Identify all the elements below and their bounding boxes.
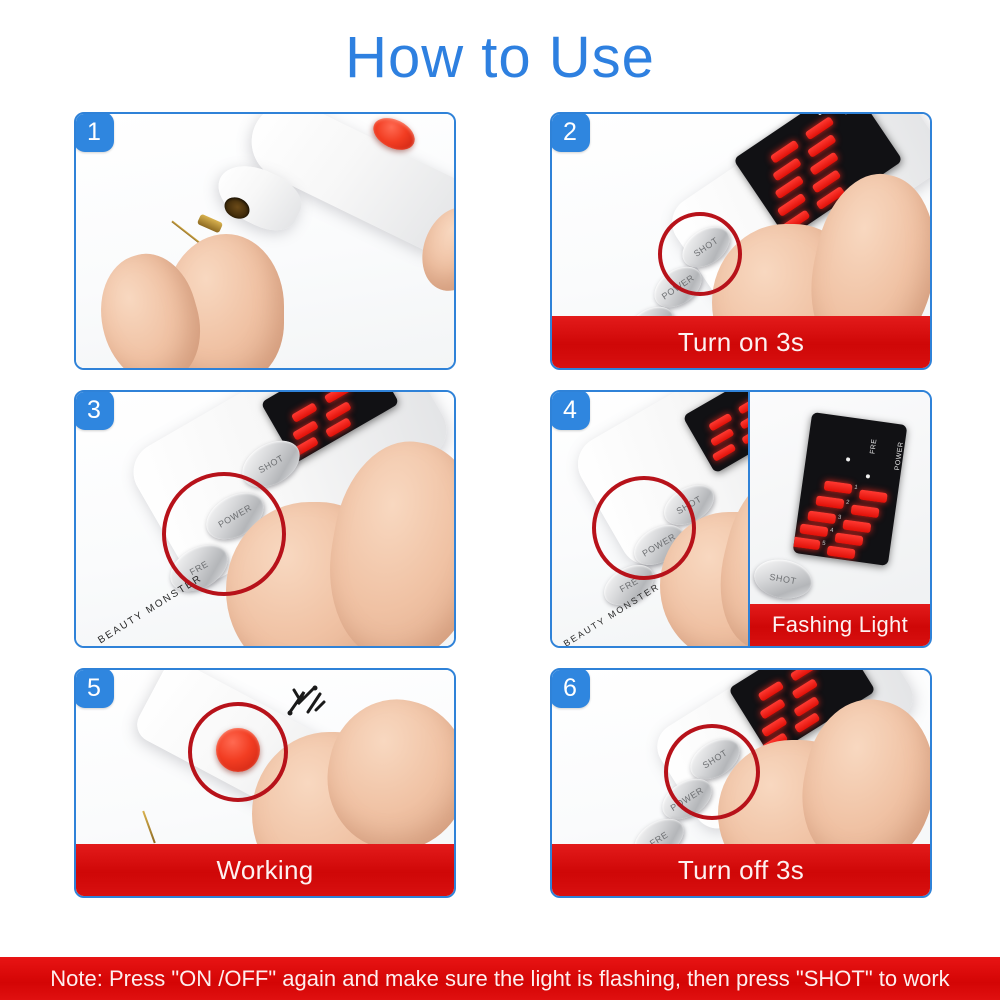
page-title: How to Use — [0, 26, 1000, 90]
how-to-use-page: How to Use 1 — [0, 0, 1000, 1000]
step-caption-2: Turn on 3s — [552, 316, 930, 368]
led-indicator-dot-fre — [846, 457, 851, 462]
step-photo-3: SHOT POWER FRE BEAUTY MONSTER — [76, 392, 454, 646]
step-card-3[interactable]: SHOT POWER FRE BEAUTY MONSTER 3 — [74, 390, 456, 648]
led-level-number: 3 — [837, 515, 841, 521]
step-badge-4: 4 — [550, 390, 590, 430]
highlight-ring — [188, 702, 288, 802]
step-card-2[interactable]: SHOT POWER FRE 2 Turn on 3s — [550, 112, 932, 370]
led-label-fre: FRE — [869, 438, 878, 454]
led-bar — [799, 523, 828, 537]
led-bar — [850, 504, 879, 518]
highlight-ring — [162, 472, 286, 596]
highlight-ring — [592, 476, 696, 580]
led-label-power: POWER — [894, 441, 905, 471]
step-photo-1 — [76, 114, 454, 368]
led-bar — [859, 489, 888, 503]
step-caption-5: Working — [76, 844, 454, 896]
footer-note: Note: Press "ON /OFF" again and make sur… — [0, 957, 1000, 1000]
led-level-number: 5 — [822, 541, 826, 547]
step-badge-1: 1 — [74, 112, 114, 152]
led-indicator-dot-power — [866, 474, 871, 479]
led-bar — [738, 396, 749, 415]
needle-tip — [142, 811, 156, 844]
led-bar — [834, 532, 863, 546]
led-indicator-dot-power — [843, 114, 849, 115]
step-card-4[interactable]: SHOT POWER FRE BEAUTY MONSTER FRE POWER … — [550, 390, 932, 648]
shot-button-label: SHOT — [257, 453, 286, 475]
step-badge-5: 5 — [74, 668, 114, 708]
step-badge-3: 3 — [74, 390, 114, 430]
led-bar — [793, 537, 821, 551]
led-bar — [824, 480, 853, 494]
inset-closeup-panel: FRE POWER 1 2 3 4 — [748, 392, 930, 646]
step-caption-6: Turn off 3s — [552, 844, 930, 896]
led-level-number: 2 — [846, 500, 850, 506]
highlight-ring — [664, 724, 760, 820]
step-photo-4: SHOT POWER FRE BEAUTY MONSTER — [552, 392, 748, 646]
led-level-number: 1 — [854, 485, 858, 491]
led-bar — [807, 510, 836, 524]
step-badge-2: 2 — [550, 112, 590, 152]
led-level-number: 4 — [830, 528, 834, 534]
highlight-ring — [658, 212, 742, 296]
steps-grid: 1 — [74, 112, 932, 898]
step-badge-6: 6 — [550, 668, 590, 708]
step-card-6[interactable]: SHOT POWER FRE 6 Turn off 3s — [550, 668, 932, 898]
step-card-5[interactable]: 5 Working — [74, 668, 456, 898]
led-bar — [827, 545, 856, 559]
shot-button[interactable]: SHOT — [751, 555, 815, 602]
shot-button-label: SHOT — [769, 572, 798, 587]
inset-led-display-panel: FRE POWER 1 2 3 4 — [793, 412, 908, 566]
inset-caption: Fashing Light — [750, 604, 930, 646]
led-indicator-dot-fre — [817, 114, 823, 116]
led-bar — [815, 495, 844, 509]
spark-icon — [284, 682, 330, 722]
needle-base — [197, 214, 223, 234]
step-card-1[interactable]: 1 — [74, 112, 456, 370]
led-bar — [842, 519, 871, 533]
